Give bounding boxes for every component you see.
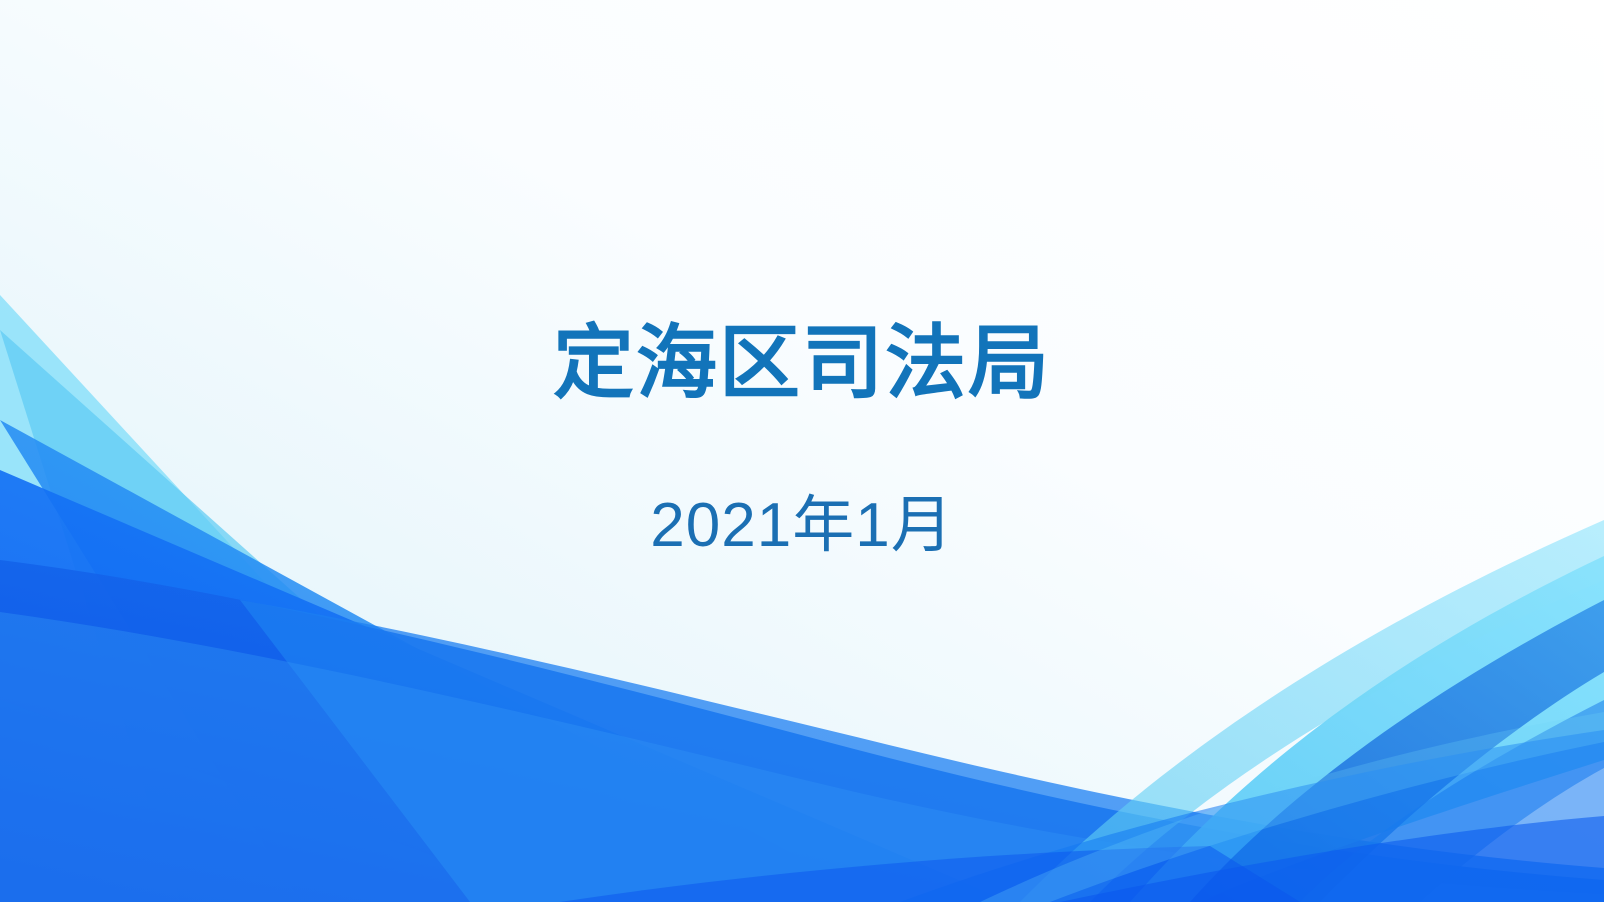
background-decoration	[0, 0, 1604, 902]
title-slide: 定海区司法局 2021年1月	[0, 0, 1604, 902]
